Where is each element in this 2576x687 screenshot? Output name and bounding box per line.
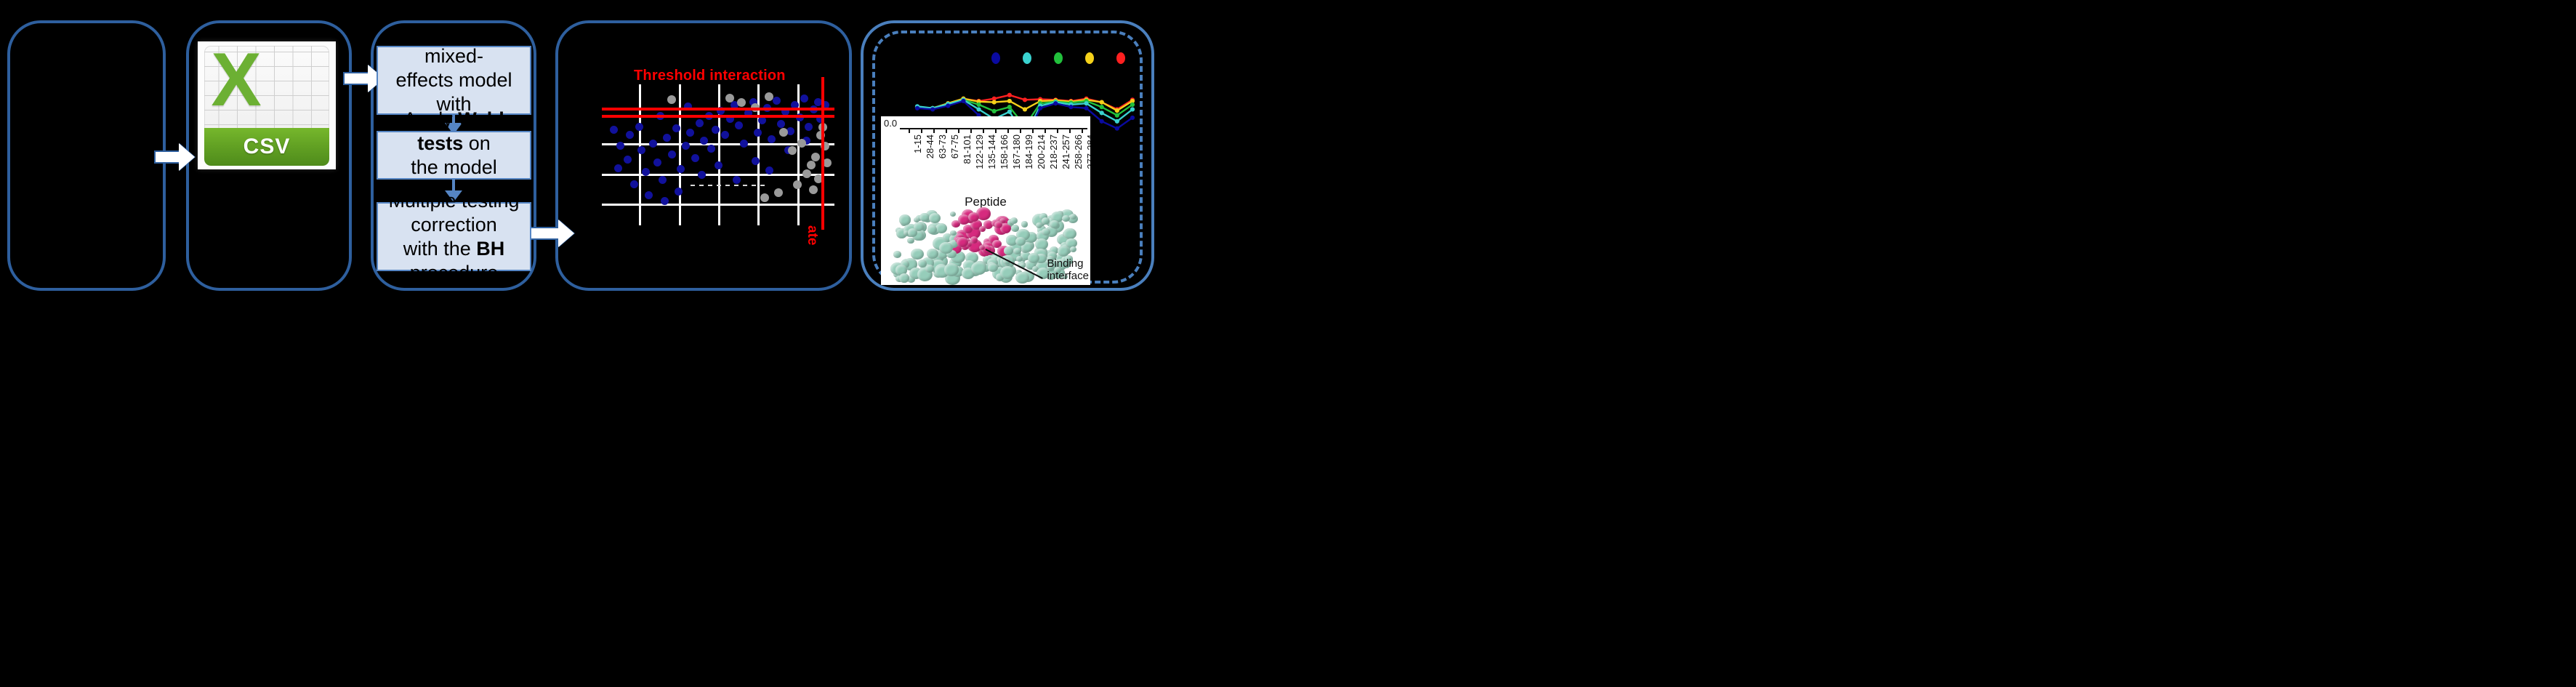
x-tick [1032,128,1034,133]
x-tick [1069,128,1071,133]
scatter-point [774,188,783,197]
scatter-point [672,124,680,132]
x-tick [995,128,997,133]
workflow-diagram: X CSV Fit a linear mixed- effects model … [0,0,2576,687]
binding-label-line1: Binding [1047,257,1089,270]
uptake-marker [1115,108,1119,113]
csv-icon-body: X CSV [204,46,329,166]
scatter-point [696,119,704,127]
scatter-point [721,131,729,139]
scatter-point [809,185,818,194]
x-tick [909,128,910,133]
protein-surface-residue [935,223,947,233]
protein-surface-residue [1058,246,1069,256]
uptake-marker [930,107,935,111]
excel-x-icon: X [207,47,265,114]
uptake-marker [1100,105,1104,109]
protein-surface-residue [1015,272,1029,284]
scatter-point [610,126,618,134]
uptake-marker [1100,100,1104,105]
uptake-marker [915,106,919,111]
y-axis-tick-label: 0.0 [884,118,897,129]
x-axis-line [900,128,1087,129]
scatter-point [682,142,690,150]
x-tick-label: 158-166 [999,134,1010,169]
uptake-marker [1007,105,1012,109]
peptide-profile-card: 0.0 1-1528-4463-7367-7581-101122-129135-… [881,116,1090,285]
x-tick [946,128,947,133]
x-tick-label: 200-214 [1036,134,1047,169]
scatter-point [635,123,643,131]
legend-dot-t2 [1023,52,1031,64]
x-tick-label: 184-199 [1023,134,1034,169]
uptake-marker [946,103,950,108]
protein-surface-residue [1028,253,1039,263]
threshold-interaction-line [602,108,834,111]
x-tick [1057,128,1058,133]
arrow-head [179,143,195,171]
step-bh-bold: BH [476,238,504,260]
scatter-point [733,176,741,184]
scatter-point [735,121,743,129]
protein-surface-residue [893,251,901,258]
x-tick-label: 167-180 [1011,134,1022,169]
scatter-point [624,156,632,164]
grid-line-horizontal [602,174,834,176]
protein-surface-residue [929,213,941,223]
arrow-head [558,220,574,247]
arrow-analysis-to-scatter [528,218,574,249]
uptake-marker [1023,97,1027,102]
x-tick-label: 28-44 [925,134,935,158]
scatter-point [614,164,622,172]
arrow-shaft [154,150,180,164]
x-tick-label: 63-73 [937,134,948,158]
threshold-state-line [821,77,824,230]
protein-surface-residue [1062,215,1069,222]
x-tick [921,128,922,133]
scatter-point [768,135,776,143]
x-tick [1020,128,1021,133]
x-tick [983,128,984,133]
arrow-shaft [528,227,558,240]
protein-surface-residue [899,273,909,282]
protein-surface-residue [1070,246,1077,253]
uptake-marker [1084,101,1088,105]
uptake-marker [1130,107,1135,111]
scatter-point [668,150,676,158]
arrow-shaft [343,72,369,85]
scatter-point [715,161,723,169]
uptake-marker [1100,111,1104,115]
scatter-point [773,97,781,105]
protein-surface-residue [1042,228,1050,236]
protein-surface-residue [927,249,938,259]
uptake-marker [1130,116,1135,120]
scatter-point [754,129,762,137]
scatter-point [779,128,788,137]
binding-site-residue [979,245,985,250]
scatter-point [626,131,634,139]
scatter-point [637,146,645,154]
panel-input [7,20,166,291]
arrow-input-to-csv [154,142,195,172]
scatter-point [707,145,715,153]
x-tick-label: 67-75 [949,134,960,158]
uptake-marker [976,103,981,107]
scatter-point [667,95,676,104]
uptake-marker [976,107,981,111]
protein-surface-residue [911,249,924,260]
protein-surface-residue [1036,222,1042,228]
scatter-point [737,98,746,107]
scatter-point [788,146,797,155]
x-tick [1082,128,1083,133]
binding-site-residue [994,221,1002,228]
x-tick-label: 135-144 [986,134,997,169]
x-tick-label: 1-15 [912,134,923,153]
protein-surface-residue [1015,237,1026,246]
csv-file-icon: X CSV [198,41,336,169]
step-box-wald[interactable]: Apply Wald tests on the model parameters [377,131,531,180]
step-bh-post: procedure [410,262,499,284]
scatter-point [811,153,820,161]
step-wald-pre: Apply [403,108,458,130]
scatter-point [686,129,694,137]
scatter-point [653,158,661,166]
x-tick [970,128,972,133]
protein-surface-residue [944,263,959,276]
scatter-point [645,191,653,199]
step-wald-line1: Apply Wald tests on [378,108,530,156]
uptake-marker [1115,113,1119,118]
x-tick [933,128,935,133]
binding-interface-label: Binding interface [1047,257,1089,282]
protein-surface-residue [1070,214,1076,220]
x-tick [958,128,959,133]
legend-dot-t5 [1116,52,1125,64]
scatter-point [659,176,667,184]
x-tick [1045,128,1046,133]
step-box-bh[interactable]: Multiple testing correction with the BH … [377,202,531,271]
x-tick-label: 258-266 [1073,134,1084,169]
uptake-marker [961,99,965,103]
uptake-marker [1115,126,1119,131]
scatter-point [616,142,624,150]
scatter-point [649,140,657,148]
scatter-plot [602,89,834,225]
x-tick [1007,128,1009,133]
uptake-marker [1115,119,1119,124]
legend-dot-t1 [991,52,1000,64]
scatter-point [805,123,813,131]
step-bh-line2: correction [411,213,497,237]
protein-surface-residue [1021,221,1029,227]
threshold-interaction-label: Threshold interaction [634,68,786,84]
x-tick-label: 122-129 [974,134,985,169]
x-tick-label: 218-237 [1048,134,1059,169]
uptake-marker [1084,106,1088,111]
scatter-point [630,180,638,188]
scatter-point [691,154,699,162]
protein-surface-residue [899,214,911,225]
protein-surface-residue [1010,217,1018,224]
scatter-point [663,134,671,142]
scatter-point [777,120,785,128]
step-reml-line1: Fit a linear mixed- [378,20,530,68]
uptake-marker [1023,107,1027,111]
scatter-point [752,157,760,165]
x-tick-label: 277-284 [1085,134,1090,169]
uptake-marker [1038,106,1042,111]
binding-site-residue [979,226,986,232]
scatter-point [807,161,816,169]
step-bh-line3: with the BH procedure [378,237,530,285]
scatter-point [740,140,748,148]
scatter-point [677,165,685,173]
scatter-point [661,197,669,205]
step-box-reml[interactable]: Fit a linear mixed- effects model with R… [377,46,531,115]
legend-dot-t4 [1085,52,1094,64]
uptake-marker [992,109,997,113]
csv-label: CSV [204,128,329,166]
uptake-marker [1007,110,1012,114]
scatter-point [800,95,808,103]
uptake-marker [1130,103,1135,107]
scatter-point [675,188,683,196]
legend-dot-t3 [1054,52,1063,64]
scatter-point [698,171,706,179]
uptake-marker [1100,119,1104,124]
scatter-point [797,139,806,148]
scatter-point [802,169,811,178]
uptake-marker [1007,99,1012,103]
uptake-marker [1007,93,1012,97]
grid-line-horizontal [602,204,834,206]
protein-surface-residue [971,262,986,275]
protein-surface-residue [1016,256,1023,262]
protein-surface-residue [950,212,956,217]
step-wald-post: on [463,132,491,154]
threshold-interaction-line-2 [602,115,834,118]
uptake-marker [992,100,997,105]
protein-surface-residue [1050,220,1058,228]
uptake-marker [1068,105,1073,109]
uptake-marker [1053,101,1058,105]
dashed-guide [691,185,765,186]
step-bh-line1: Multiple testing [388,189,519,213]
step-bh-pre: with the [403,238,477,260]
scatter-point [760,193,769,202]
x-tick-label: 81-101 [962,134,973,164]
protein-surface-residue [988,263,998,272]
binding-label-line2: interface [1047,270,1089,282]
scatter-point [793,180,802,189]
x-tick-label: 241-257 [1060,134,1071,169]
protein-surface-residue [1000,266,1015,279]
